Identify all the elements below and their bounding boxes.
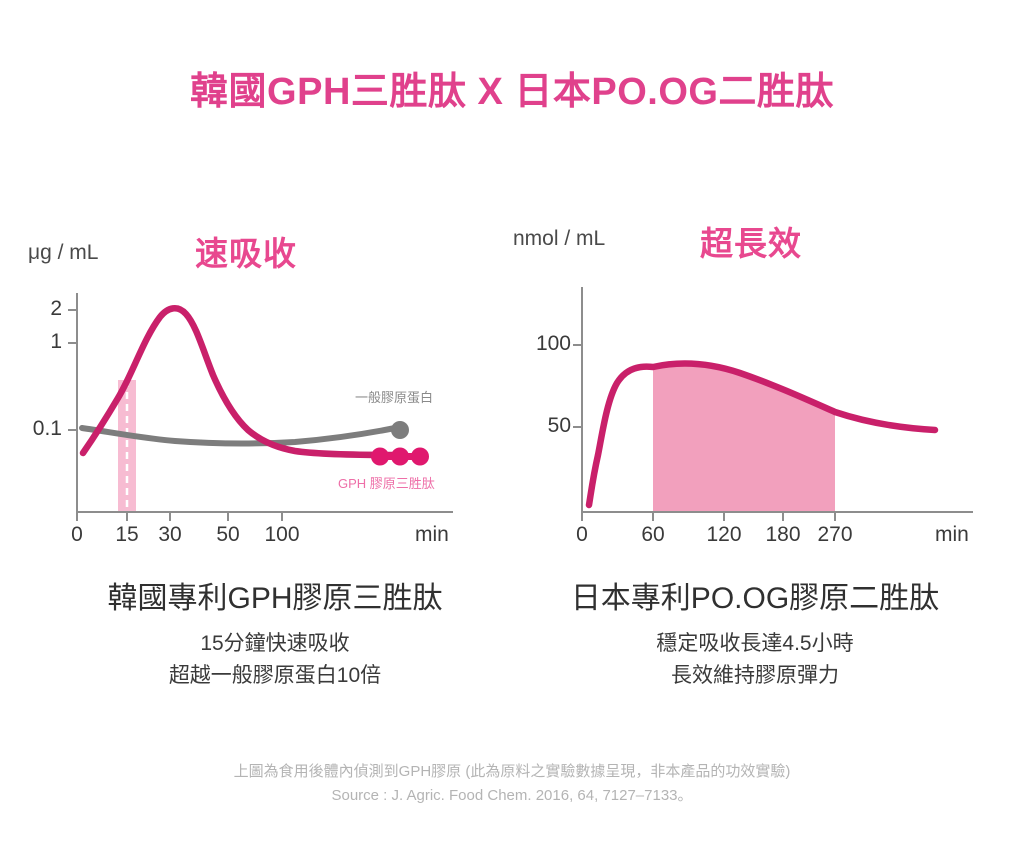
- right-caption-block: 日本專利PO.OG膠原二胜肽 穩定吸收長達4.5小時 長效維持膠原彈力: [510, 580, 1000, 693]
- left-chart-plot: [10, 215, 500, 545]
- left-chart-panel: μg / mL 速吸收 2 1 0.1 0: [10, 215, 500, 545]
- left-ytick-label-1: 1: [10, 330, 62, 354]
- right-xtick-label-270: 270: [808, 523, 862, 547]
- left-caption-line-2: 超越一般膠原蛋白10倍: [25, 660, 525, 693]
- right-caption-line-1: 穩定吸收長達4.5小時: [510, 628, 1000, 661]
- right-xtick-label-0: 0: [562, 523, 602, 547]
- left-x-axis-unit: min: [415, 523, 449, 547]
- left-xtick-label-50: 50: [208, 523, 248, 547]
- footnote-line-1: 上圖為食用後體內偵測到GPH膠原 (此為原料之實驗數據呈現，非本產品的功效實驗): [0, 760, 1024, 784]
- footnote-block: 上圖為食用後體內偵測到GPH膠原 (此為原料之實驗數據呈現，非本產品的功效實驗)…: [0, 760, 1024, 808]
- right-caption-line-2: 長效維持膠原彈力: [510, 660, 1000, 693]
- left-xtick-label-100: 100: [257, 523, 307, 547]
- legend-pink-tribead: [371, 448, 429, 466]
- right-ytick-label-100: 100: [513, 332, 571, 356]
- right-xtick-label-60: 60: [631, 523, 675, 547]
- left-caption-block: 韓國專利GPH膠原三胜肽 15分鐘快速吸收 超越一般膠原蛋白10倍: [25, 580, 525, 693]
- right-chart-plot: [505, 215, 1005, 545]
- page-title: 韓國GPH三胜肽 X 日本PO.OG二胜肽: [0, 60, 1024, 115]
- right-shaded-region: [653, 364, 835, 512]
- right-x-axis-unit: min: [935, 523, 969, 547]
- left-caption-heading: 韓國專利GPH膠原三胜肽: [25, 580, 525, 618]
- right-xtick-label-120: 120: [697, 523, 751, 547]
- left-ytick-label-0-1: 0.1: [10, 417, 62, 441]
- legend-label-gph-tripeptide: GPH 膠原三胜肽: [338, 473, 435, 492]
- legend-label-general-collagen: 一般膠原蛋白: [355, 387, 433, 406]
- left-xtick-label-30: 30: [150, 523, 190, 547]
- left-xtick-label-15: 15: [107, 523, 147, 547]
- footnote-line-2: Source : J. Agric. Food Chem. 2016, 64, …: [0, 784, 1024, 808]
- right-ytick-label-50: 50: [513, 414, 571, 438]
- legend-gray-dot: [391, 421, 409, 439]
- right-caption-heading: 日本專利PO.OG膠原二胜肽: [510, 580, 1000, 618]
- left-caption-line-1: 15分鐘快速吸收: [25, 628, 525, 661]
- right-chart-panel: nmol / mL 超長效 100 50 0 60 120 180 270 mi…: [505, 215, 1005, 545]
- left-xtick-label-0: 0: [57, 523, 97, 547]
- left-ytick-label-2: 2: [10, 297, 62, 321]
- right-xtick-label-180: 180: [756, 523, 810, 547]
